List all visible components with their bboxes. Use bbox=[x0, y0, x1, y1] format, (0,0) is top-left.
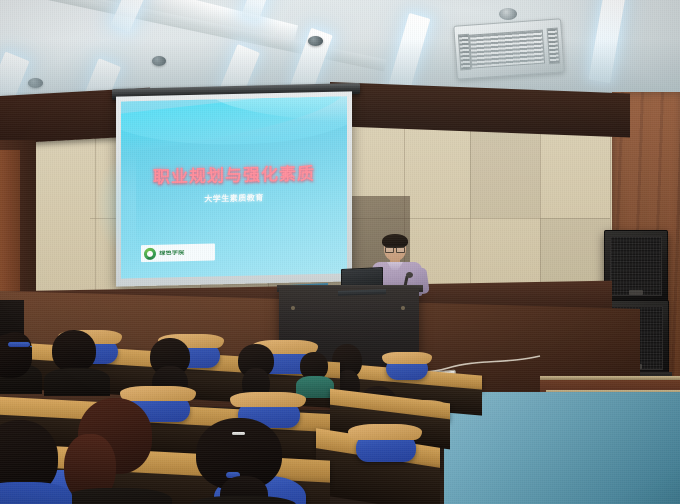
slide-wave-graphic bbox=[121, 96, 347, 155]
projector-screen: 职业规划与强化素质 大学生素质教育 绿色学院 bbox=[116, 91, 352, 286]
person-head bbox=[0, 334, 32, 378]
person-shoulders bbox=[0, 482, 72, 504]
speaker-grille bbox=[610, 236, 662, 296]
seat-trim bbox=[230, 392, 306, 407]
hair-band bbox=[8, 342, 30, 347]
pa-speaker-top bbox=[604, 230, 668, 302]
audience-member-foreground bbox=[186, 418, 308, 504]
person-shoulders bbox=[62, 488, 172, 504]
slide-wave-graphic bbox=[206, 96, 347, 123]
slide-logo-text: 绿色学院 bbox=[159, 250, 184, 257]
podium-fitting bbox=[401, 306, 405, 310]
person-shoulders bbox=[190, 496, 296, 504]
leaf-swirl-icon bbox=[144, 247, 156, 259]
slide-subtitle: 大学生素质教育 bbox=[121, 190, 347, 206]
lecture-hall-photo: 职业规划与强化素质 大学生素质教育 绿色学院 bbox=[0, 0, 680, 504]
podium-fitting bbox=[291, 306, 295, 310]
seat-trim bbox=[382, 352, 432, 364]
hair-clip bbox=[232, 432, 245, 435]
glasses-icon bbox=[385, 246, 405, 251]
slide-logo: 绿色学院 bbox=[141, 244, 215, 263]
stage-step-edge bbox=[540, 376, 680, 380]
audience-member-foreground bbox=[0, 420, 74, 504]
speaker-badge bbox=[629, 290, 643, 295]
audience-member bbox=[0, 334, 50, 404]
slide-wave-graphic bbox=[121, 96, 347, 156]
podium-microphone-head bbox=[406, 272, 413, 278]
audience-member bbox=[44, 330, 114, 394]
seat-trim bbox=[348, 424, 422, 440]
smoke-detector-icon bbox=[499, 8, 517, 20]
presentation-slide: 职业规划与强化素质 大学生素质教育 绿色学院 bbox=[121, 96, 347, 278]
slide-title: 职业规划与强化素质 bbox=[121, 158, 347, 188]
person-head bbox=[52, 330, 96, 372]
